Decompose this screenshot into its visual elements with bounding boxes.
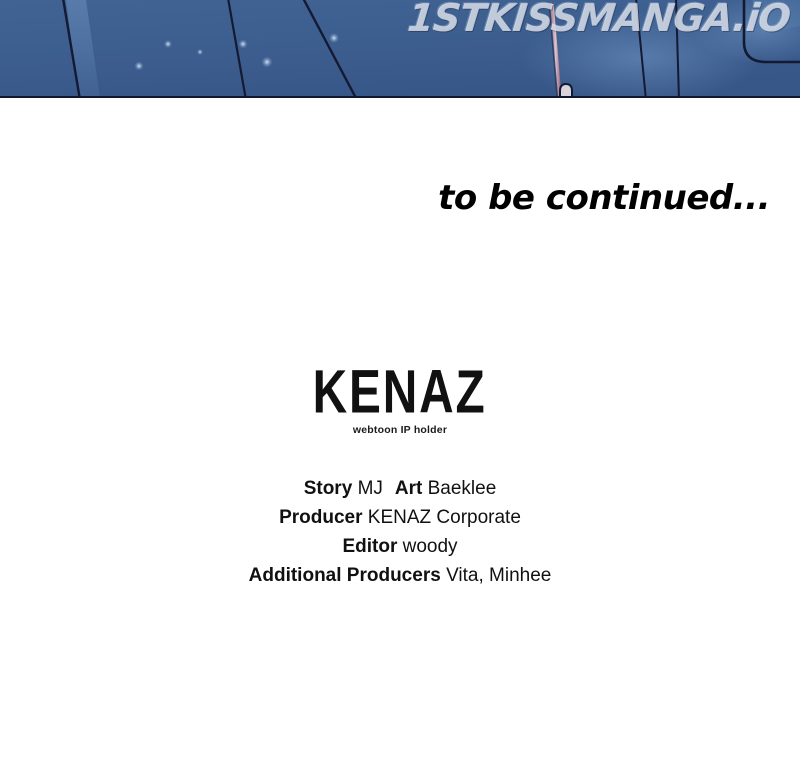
light-dot xyxy=(135,62,144,71)
artwork-panel: 1STKISSMANGA.iO xyxy=(0,0,800,98)
light-dot xyxy=(197,49,203,55)
light-dot xyxy=(329,33,339,43)
credit-role: Producer xyxy=(279,507,362,528)
credit-value: Vita, Minhee xyxy=(446,565,551,586)
to-be-continued-text: to be continued... xyxy=(438,178,770,218)
light-dot xyxy=(262,57,273,68)
credit-line: Additional Producers Vita, Minhee xyxy=(0,561,800,590)
credit-role: Art xyxy=(395,478,422,499)
credit-line: Story MJArt Baeklee xyxy=(0,474,800,503)
light-dot xyxy=(239,40,248,49)
capsule-shape xyxy=(560,84,572,98)
credit-line: Producer KENAZ Corporate xyxy=(0,503,800,532)
credit-role: Additional Producers xyxy=(249,565,441,586)
studio-wordmark: KENAZ xyxy=(313,362,487,423)
credit-value: woody xyxy=(403,536,458,557)
light-dot xyxy=(164,40,172,48)
artwork-illustration xyxy=(0,0,800,98)
credit-role: Story xyxy=(304,478,353,499)
credit-line: Editor woody xyxy=(0,532,800,561)
webtoon-end-page: 1STKISSMANGA.iO to be continued... KENAZ… xyxy=(0,0,800,766)
credit-role: Editor xyxy=(342,536,397,557)
credits-block: Story MJArt BaekleeProducer KENAZ Corpor… xyxy=(0,474,800,590)
credit-value: Baeklee xyxy=(428,478,497,499)
studio-logo-block: KENAZ webtoon IP holder xyxy=(0,362,800,436)
credit-value: KENAZ Corporate xyxy=(368,507,521,528)
credit-value: MJ xyxy=(358,478,383,499)
